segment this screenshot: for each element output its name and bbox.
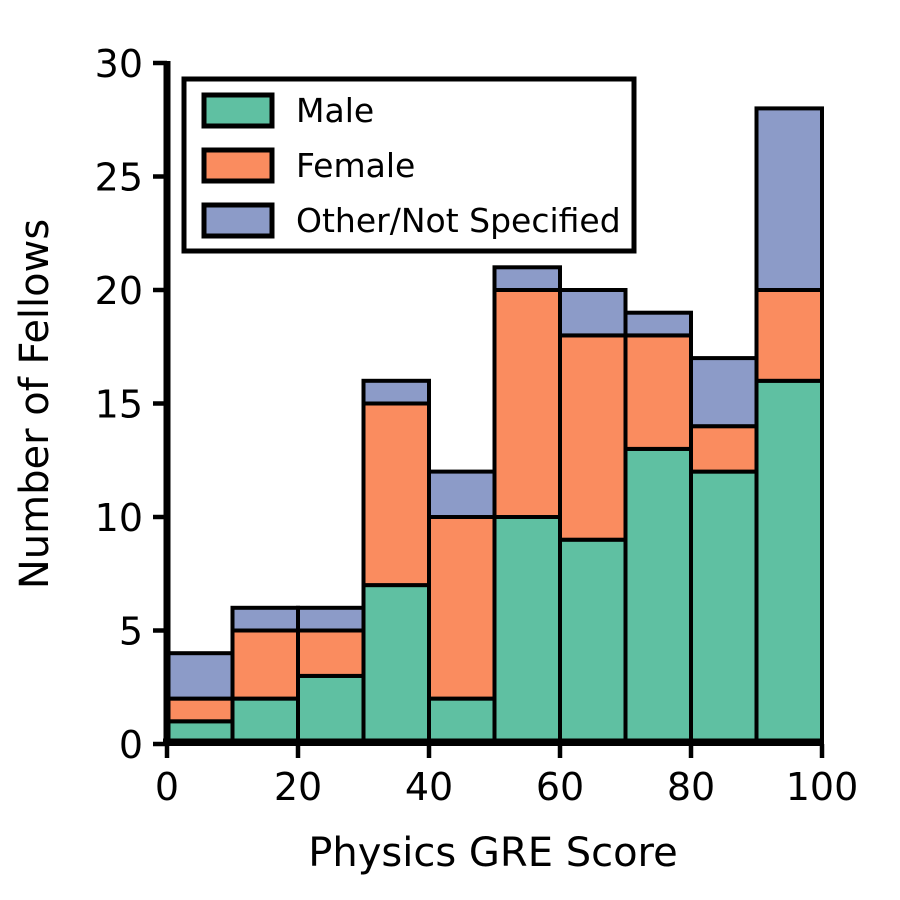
bar-female-30-40 — [364, 404, 430, 586]
bar-other-not-specified-70-80 — [626, 313, 692, 336]
bar-male-70-80 — [626, 449, 692, 744]
y-tick-label-5: 5 — [119, 610, 143, 654]
histogram-figure: 051015202530 020406080100 Physics GRE Sc… — [0, 0, 900, 900]
bar-female-90-100 — [757, 290, 823, 381]
bar-other-not-specified-80-90 — [691, 358, 757, 426]
x-axis-ticks — [167, 744, 822, 758]
bar-male-40-50 — [429, 699, 495, 744]
y-tick-label-30: 30 — [95, 42, 143, 86]
x-tick-label-0: 0 — [155, 765, 179, 809]
bar-other-not-specified-30-40 — [364, 381, 430, 404]
bar-other-not-specified-10-20 — [233, 608, 299, 631]
bar-female-10-20 — [233, 631, 299, 699]
x-tick-label-80: 80 — [667, 765, 715, 809]
legend-swatch-male — [204, 95, 272, 126]
y-tick-label-0: 0 — [119, 723, 143, 767]
bar-male-30-40 — [364, 585, 430, 744]
y-axis-tick-labels: 051015202530 — [95, 42, 143, 767]
x-tick-label-20: 20 — [274, 765, 322, 809]
x-axis-title: Physics GRE Score — [308, 830, 677, 876]
bar-other-not-specified-0-10 — [167, 653, 233, 698]
legend-swatch-other-not-specified — [204, 205, 272, 236]
bar-male-50-60 — [495, 517, 561, 744]
legend-swatch-female — [204, 150, 272, 181]
y-tick-label-15: 15 — [95, 383, 143, 427]
bar-female-70-80 — [626, 335, 692, 449]
x-tick-label-60: 60 — [536, 765, 584, 809]
y-tick-label-25: 25 — [95, 156, 143, 200]
bar-other-not-specified-40-50 — [429, 472, 495, 517]
bar-male-90-100 — [757, 381, 823, 744]
bar-female-40-50 — [429, 517, 495, 699]
bar-male-80-90 — [691, 472, 757, 744]
bar-male-60-70 — [560, 540, 626, 744]
bar-male-20-30 — [298, 676, 364, 744]
bar-female-60-70 — [560, 335, 626, 539]
bar-female-50-60 — [495, 290, 561, 517]
x-tick-label-40: 40 — [405, 765, 453, 809]
bar-male-10-20 — [233, 699, 299, 744]
bar-female-80-90 — [691, 426, 757, 471]
bar-female-20-30 — [298, 631, 364, 676]
chart-canvas: 051015202530 020406080100 Physics GRE Sc… — [0, 0, 900, 900]
legend-label-male: Male — [296, 91, 374, 130]
bar-other-not-specified-20-30 — [298, 608, 364, 631]
x-axis-tick-labels: 020406080100 — [155, 765, 858, 809]
bar-other-not-specified-60-70 — [560, 290, 626, 335]
legend-label-female: Female — [296, 146, 415, 185]
bar-other-not-specified-50-60 — [495, 267, 561, 290]
legend: MaleFemaleOther/Not Specified — [184, 79, 634, 251]
x-tick-label-100: 100 — [786, 765, 859, 809]
bar-other-not-specified-90-100 — [757, 108, 823, 290]
y-tick-label-20: 20 — [95, 269, 143, 313]
legend-label-other-not-specified: Other/Not Specified — [296, 201, 621, 240]
bar-female-0-10 — [167, 699, 233, 722]
y-tick-label-10: 10 — [95, 496, 143, 540]
y-axis-title: Number of Fellows — [12, 219, 58, 589]
